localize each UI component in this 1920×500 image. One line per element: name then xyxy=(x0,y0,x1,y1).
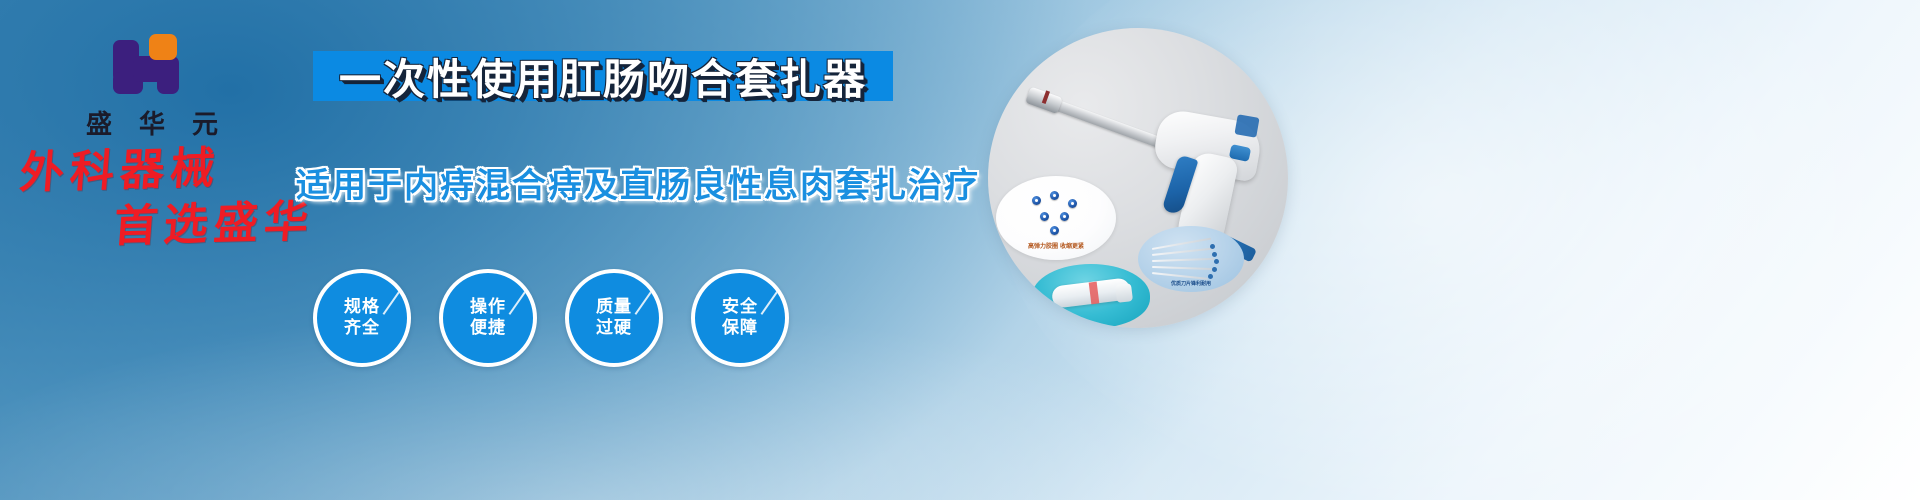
subtitle: 适用于内痔混合痔及直肠良性息肉套扎治疗 xyxy=(296,158,980,207)
feature-badge-safety[interactable]: 安全 保障 xyxy=(691,269,789,367)
brand-logo[interactable]: 盛 华 元 xyxy=(62,28,242,141)
rubber-band-dot xyxy=(1050,191,1059,200)
rubber-band-dot xyxy=(1040,212,1049,221)
badge-line-1: 操作 xyxy=(470,297,506,318)
badge-slash-icon xyxy=(383,289,402,315)
badge-slash-icon xyxy=(635,289,654,315)
capsule-cap xyxy=(1115,283,1133,303)
rubber-band-dot xyxy=(1060,212,1069,221)
needle xyxy=(1152,266,1212,270)
badge-line-2: 齐全 xyxy=(344,318,380,339)
feature-badge-quality[interactable]: 质量 过硬 xyxy=(565,269,663,367)
badge-line-2: 过硬 xyxy=(596,318,632,339)
needle-set-inset: 优质刀片锋利耐用 xyxy=(1138,226,1244,292)
needle-head xyxy=(1208,274,1213,279)
capsule-tray-inset xyxy=(1032,264,1150,328)
feature-badge-list: 规格 齐全 操作 便捷 质量 过硬 安全 保障 xyxy=(313,269,789,367)
rubber-bands-inset: 高弹力胶圈 收缩更紧 xyxy=(996,176,1116,260)
device-control-panel xyxy=(1234,114,1259,138)
needle xyxy=(1152,248,1214,256)
calligraphy-slogan: 外科器械 首选盛华 xyxy=(14,144,321,252)
feature-badge-specifications[interactable]: 规格 齐全 xyxy=(313,269,411,367)
rubber-bands-caption: 高弹力胶圈 收缩更紧 xyxy=(996,241,1116,250)
badge-line-1: 规格 xyxy=(344,297,380,318)
rubber-band-dot xyxy=(1050,226,1059,235)
needle-head xyxy=(1212,252,1217,257)
logo-accent-shape xyxy=(149,34,177,60)
needle xyxy=(1152,258,1214,262)
feature-badge-operation[interactable]: 操作 便捷 xyxy=(439,269,537,367)
needle xyxy=(1152,272,1208,280)
product-photo: 高弹力胶圈 收缩更紧 优质刀片锋利耐用 xyxy=(988,28,1288,328)
calligraphy-line-1: 外科器械 xyxy=(18,144,320,196)
brand-name: 盛 华 元 xyxy=(62,104,242,141)
promo-banner: 盛 华 元 外科器械 首选盛华 一次性使用肛肠吻合套扎器 适用于内痔混合痔及直肠… xyxy=(0,0,1920,500)
needle-head xyxy=(1212,267,1217,272)
badge-line-1: 质量 xyxy=(596,297,632,318)
rubber-band-dot xyxy=(1032,196,1041,205)
logo-block-shape xyxy=(157,56,179,94)
rubber-band-dot xyxy=(1068,199,1077,208)
shenghuayuan-blocks-logo-icon xyxy=(109,28,195,98)
badge-slash-icon xyxy=(509,289,528,315)
badge-slash-icon xyxy=(761,289,780,315)
badge-line-1: 安全 xyxy=(722,297,758,318)
badge-line-2: 保障 xyxy=(722,318,758,339)
needle-set-caption: 优质刀片锋利耐用 xyxy=(1138,280,1244,287)
badge-line-2: 便捷 xyxy=(470,318,506,339)
needle-head xyxy=(1214,259,1219,264)
needle-head xyxy=(1210,244,1215,249)
calligraphy-line-2: 首选盛华 xyxy=(112,200,316,249)
page-title: 一次性使用肛肠吻合套扎器 xyxy=(313,46,893,106)
